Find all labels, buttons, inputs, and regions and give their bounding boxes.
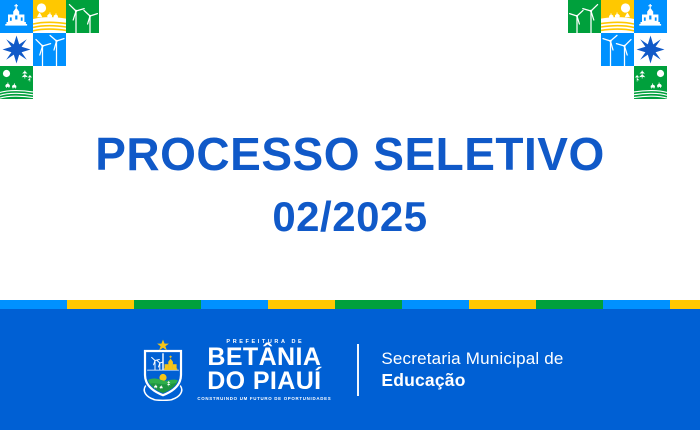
processo-seletivo-banner: PROCESSO SELETIVO 02/2025: [0, 0, 700, 430]
page-title: PROCESSO SELETIVO: [0, 128, 700, 180]
prefeitura-tagline: CONSTRUINDO UM FUTURO DE OPORTUNIDADES: [197, 396, 331, 402]
stripe-segment: [670, 300, 700, 309]
corner-pattern-right: [568, 0, 700, 99]
stripe-segment: [335, 300, 402, 309]
farm-sun-tile: [601, 0, 634, 33]
secretaria-line2: Educação: [381, 369, 563, 391]
footer-content: PREFEITURA DE BETÂNIA DO PIAUÍ CONSTRUIN…: [0, 309, 700, 430]
stripe-segment: [536, 300, 603, 309]
footer-divider: [357, 344, 359, 396]
stripe-segment: [134, 300, 201, 309]
stripe-segment: [201, 300, 268, 309]
prefeitura-lockup: PREFEITURA DE BETÂNIA DO PIAUÍ CONSTRUIN…: [197, 338, 331, 402]
stripe-segment: [67, 300, 134, 309]
stripe-segment: [469, 300, 536, 309]
landscape-green-tile: [634, 66, 667, 99]
stripe-segment: [603, 300, 670, 309]
page-subtitle: 02/2025: [0, 194, 700, 240]
wind-turbine-green-tile: [568, 0, 601, 33]
secretaria-lockup: Secretaria Municipal de Educação: [381, 348, 563, 391]
wind-turbine-blue-tile: [33, 33, 66, 66]
star-tile: [0, 33, 33, 66]
landscape-green-tile: [0, 66, 33, 99]
corner-pattern-left: [0, 0, 132, 99]
star-tile: [634, 33, 667, 66]
wind-turbine-green-tile: [66, 0, 99, 33]
stripe-segment: [0, 300, 67, 309]
stripe-segment: [402, 300, 469, 309]
church-tile: [634, 0, 667, 33]
wind-turbine-blue-tile: [601, 33, 634, 66]
prefeitura-name-line1: BETÂNIA: [207, 346, 321, 369]
stripe-segment: [268, 300, 335, 309]
secretaria-line1: Secretaria Municipal de: [381, 348, 563, 369]
coat-of-arms-icon: [136, 339, 190, 401]
church-tile: [0, 0, 33, 33]
headline-block: PROCESSO SELETIVO 02/2025: [0, 128, 700, 240]
footer-bar: PREFEITURA DE BETÂNIA DO PIAUÍ CONSTRUIN…: [0, 309, 700, 430]
farm-sun-tile: [33, 0, 66, 33]
stripe-band: [0, 300, 700, 309]
prefeitura-name-line2: DO PIAUÍ: [207, 370, 321, 393]
